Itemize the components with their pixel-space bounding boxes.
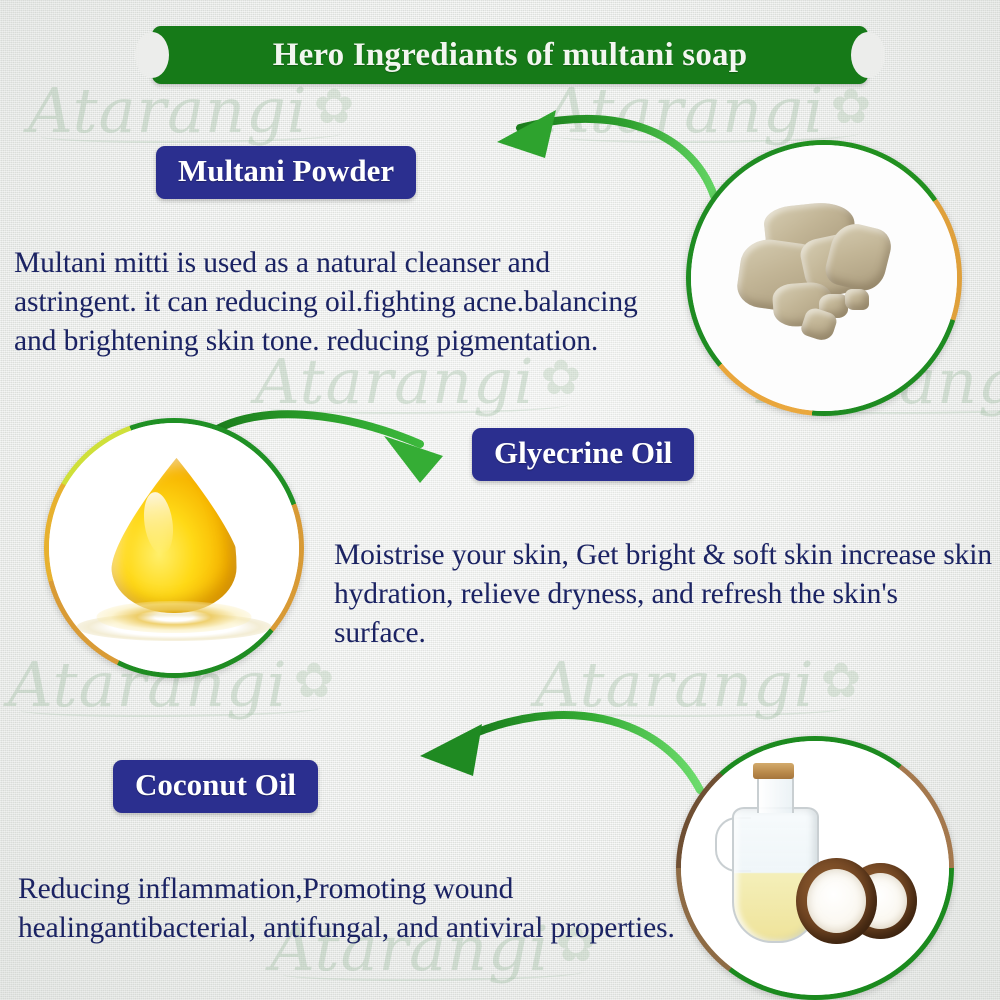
lotus-icon: ✿ — [294, 653, 336, 709]
coconut-flesh — [807, 869, 867, 933]
section-label-coconut-oil[interactable]: Coconut Oil — [113, 760, 318, 813]
watermark-atarangi: Atarangi✿ — [535, 648, 862, 721]
section-label-glycerine-oil[interactable]: Glyecrine Oil — [472, 428, 694, 481]
oil-ripple-inner — [97, 601, 252, 634]
photo-inner-glycerine — [49, 423, 299, 673]
coconut-oil-photo — [676, 736, 954, 1000]
watermark-atarangi: Atarangi✿ — [28, 74, 355, 147]
clay-illustration — [691, 145, 957, 411]
bottle-cork-icon — [753, 763, 793, 780]
watermark-text: Atarangi — [28, 74, 308, 147]
oil-drop-illustration — [49, 423, 299, 673]
lotus-icon: ✿ — [831, 79, 873, 135]
arrow-to-coconut-oil — [420, 715, 700, 790]
section-label-text: Glyecrine Oil — [494, 435, 672, 471]
section-label-text: Coconut Oil — [135, 767, 296, 803]
section-body-multani-powder: Multani mitti is used as a natural clean… — [14, 244, 674, 362]
oil-drop-highlight — [140, 490, 176, 555]
coconut-half-front-icon — [796, 858, 876, 944]
glycerine-oil-photo — [44, 418, 304, 678]
watermark-atarangi: Atarangi✿ — [545, 74, 872, 147]
lotus-icon: ✿ — [821, 653, 863, 709]
photo-inner-coconut — [681, 741, 949, 995]
section-label-text: Multani Powder — [178, 153, 394, 189]
coconut-illustration — [681, 741, 949, 995]
watermark-text: Atarangi — [545, 74, 825, 147]
arrow-to-multani-powder — [497, 110, 714, 196]
page-title: Hero Ingrediants of multani soap — [152, 26, 868, 84]
lotus-icon: ✿ — [314, 79, 356, 135]
section-label-multani-powder[interactable]: Multani Powder — [156, 146, 416, 199]
section-body-coconut-oil: Reducing inflammation,Promoting wound he… — [18, 870, 678, 948]
oil-drop-icon — [112, 458, 237, 613]
watermark-text: Atarangi — [535, 648, 815, 721]
multani-powder-photo — [686, 140, 962, 416]
section-body-glycerine-oil: Moistrise your skin, Get bright & soft s… — [334, 536, 994, 654]
photo-inner-multani — [691, 145, 957, 411]
infographic-canvas: Atarangi✿Atarangi✿Atarangi✿Atarangi✿Atar… — [0, 0, 1000, 1000]
title-banner: Hero Ingrediants of multani soap — [152, 26, 868, 84]
